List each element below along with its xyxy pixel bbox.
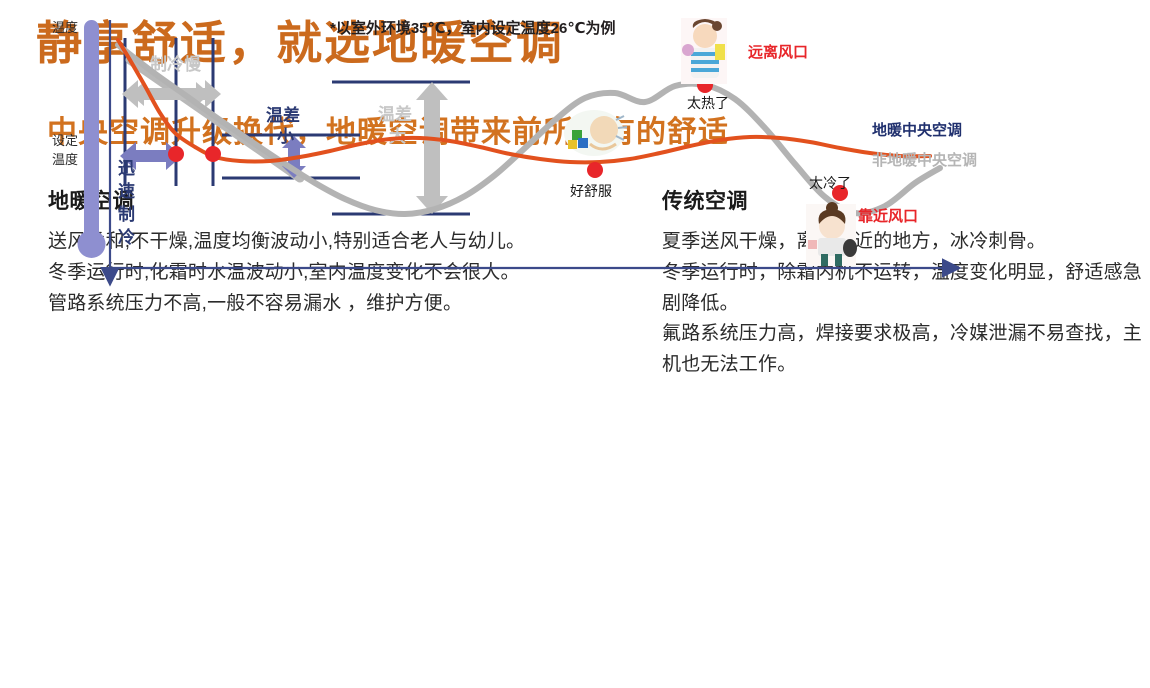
fast-cooling-label-1: 迅 <box>118 159 135 178</box>
marker-label-too-cold: 太冷了 <box>809 175 851 191</box>
large-diff-guides <box>332 82 470 214</box>
y-axis-label-set-temp-2: 温度 <box>52 152 78 167</box>
marker-2 <box>205 146 221 162</box>
near-vent-label: 靠近风口 <box>858 207 918 225</box>
marker-1 <box>168 146 184 162</box>
marker-label-comfort: 好舒服 <box>570 183 612 199</box>
far-from-vent-label: 远离风口 <box>748 43 808 61</box>
series-line-floor-heating <box>118 40 930 162</box>
marker-label-too-hot: 太热了 <box>687 95 729 111</box>
fast-cooling-label-3: 制 <box>118 204 135 224</box>
fast-cooling-label-2: 速 <box>118 181 135 201</box>
person-comfortable-icon <box>564 110 627 156</box>
large-diff-label-2: 大 <box>389 126 406 146</box>
person-too-hot-icon <box>681 18 727 84</box>
person-too-cold-icon <box>806 202 857 266</box>
small-diff-label-2: 小 <box>277 127 294 146</box>
legend-item-floor-heating: 地暖中央空调 <box>872 121 962 139</box>
fast-cooling-label-4: 冷 <box>118 227 135 247</box>
slide-root: 静享舒适，就选地暖空调 中央空调升级换代，地暖空调带来前所未有的舒适 地暖空调 … <box>0 0 1150 688</box>
y-axis-label-temperature: 温度 <box>52 20 78 35</box>
large-diff-label-1: 温差 <box>378 104 412 124</box>
large-diff-annotation: 温差 大 <box>378 82 448 214</box>
marker-comfort <box>587 162 603 178</box>
chart-note: *以室外环境35℃，室内设定温度26℃为例 <box>330 19 616 37</box>
legend-item-non-floor-heating: 非地暖中央空调 <box>872 151 977 169</box>
thermometer-icon <box>78 20 106 258</box>
y-axis-label-set-temp-1: 设定 <box>52 133 78 148</box>
column-right-line-3: 氟路系统压力高，焊接要求极高，冷媒泄漏不易查找，主机也无法工作。 <box>662 319 1142 381</box>
small-diff-label-1: 温差 <box>266 105 300 125</box>
temperature-comparison-chart: 温度 设定 温度 制 <box>0 392 1150 688</box>
slow-cooling-label: 制冷慢 <box>150 54 202 74</box>
